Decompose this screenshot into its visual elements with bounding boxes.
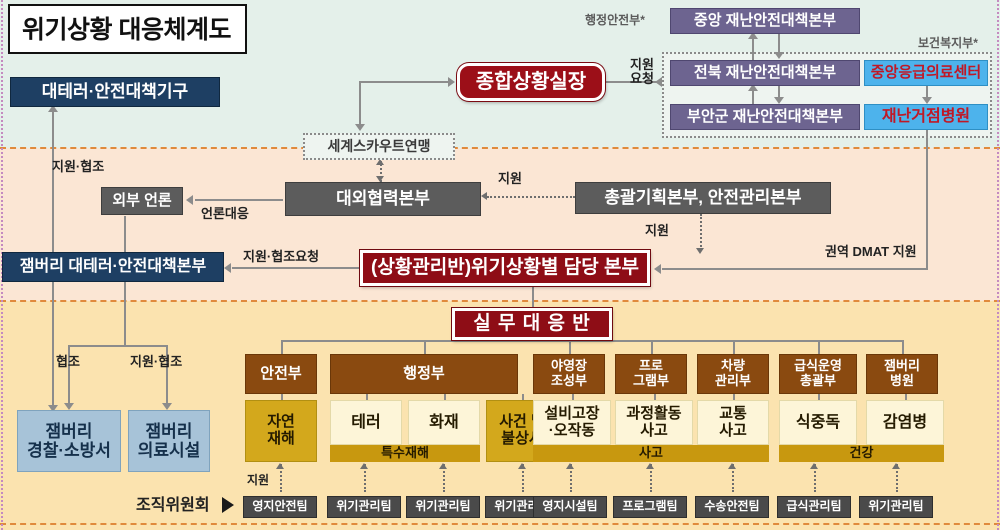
label-support-bottom: 지원	[247, 474, 269, 487]
node-team[interactable]: 급식관리팀	[777, 496, 851, 518]
line-crisis-to-working-team	[532, 286, 534, 308]
label-support-request: 지원 요청	[621, 58, 663, 87]
line-scout-to-situation	[359, 81, 449, 83]
node-external-media[interactable]: 외부 언론	[101, 187, 183, 215]
node-department[interactable]: 프로 그램부	[615, 354, 687, 394]
arrow-team-to-risk	[892, 463, 900, 469]
arrow-coop-to-media	[186, 195, 193, 205]
node-jamboree-police-fire[interactable]: 잼버리 경찰·소방서	[17, 410, 121, 472]
node-jamboree-medical-facility[interactable]: 잼버리 의료시설	[128, 410, 210, 472]
node-department[interactable]: 잼버리 병원	[866, 354, 938, 394]
node-working-response-team[interactable]: 실 무 대 응 반	[452, 308, 612, 340]
label-support-mid: 지원	[645, 224, 669, 238]
line-bus-to-department	[818, 340, 820, 354]
band-divider-3	[0, 523, 1000, 525]
arrow-team-to-risk	[728, 463, 736, 469]
line-coop-to-media	[195, 199, 283, 201]
line-bus-to-department	[424, 340, 426, 354]
node-team[interactable]: 영지안전팀	[243, 496, 317, 518]
node-central-disaster-hq[interactable]: 중앙 재난안전대책본부	[670, 8, 860, 34]
line-crisis-to-jamboree-ct	[232, 267, 360, 269]
line-jamboree-to-counterterror	[52, 107, 54, 272]
node-external-cooperation-hq[interactable]: 대외협력본부	[285, 182, 481, 216]
node-category-band[interactable]: 특수재해	[330, 445, 480, 462]
node-team[interactable]: 위기관리팀	[859, 496, 933, 518]
arrow-planning-to-crisis	[696, 248, 704, 254]
arrow-team-to-risk	[276, 463, 284, 469]
diagram-canvas: 위기상황 대응체계도 국무조정실* 대테러·안전대책기구 종합상황실장 세계스카…	[0, 0, 1000, 530]
node-risk-item[interactable]: 설비고장 ·오작동	[533, 400, 611, 445]
line-split-to-facilities	[68, 345, 168, 347]
arrow-scout-to-situation	[448, 77, 455, 87]
node-risk-item[interactable]: 식중독	[779, 400, 857, 445]
node-planning-safety-hq[interactable]: 총괄기획본부, 안전관리본부	[575, 182, 831, 214]
line-hospital-down	[926, 130, 928, 268]
node-risk-item[interactable]: 자연 재해	[245, 400, 317, 462]
arrow-jeonbuk-to-buan	[774, 97, 784, 104]
line-bus-to-department	[902, 340, 904, 354]
line-department-bus	[281, 340, 903, 342]
node-risk-item[interactable]: 과정활동 사고	[615, 400, 693, 445]
arrow-emc-to-hospital	[922, 97, 932, 104]
node-jeonbuk-disaster-hq[interactable]: 전북 재난안전대책본부	[670, 60, 860, 86]
play-triangle-icon	[222, 497, 234, 513]
node-team[interactable]: 위기관리팀	[406, 496, 480, 518]
node-team[interactable]: 수송안전팀	[695, 496, 769, 518]
line-bus-to-department	[733, 340, 735, 354]
line-jamboree-ct-down	[52, 282, 54, 409]
canvas-border-right	[997, 0, 999, 530]
arrow-team-to-risk	[439, 463, 447, 469]
node-department[interactable]: 급식운영 총괄부	[779, 354, 857, 394]
node-risk-item[interactable]: 교통 사고	[697, 400, 769, 445]
arrow-team-to-risk	[810, 463, 818, 469]
arrow-team-to-risk	[360, 463, 368, 469]
node-world-scout-federation[interactable]: 세계스카우트연맹	[303, 133, 455, 160]
node-counter-terror-org[interactable]: 대테러·안전대책기구	[10, 77, 220, 107]
node-central-emergency-medical-center[interactable]: 중앙응급의료센터	[864, 60, 988, 86]
arrow-planning-to-coop	[481, 192, 487, 200]
band-divider-1	[0, 147, 1000, 149]
node-jamboree-counter-terror-hq[interactable]: 잼버리 대테러·안전대책본부	[2, 252, 224, 282]
arrow-to-police-fire	[64, 403, 74, 410]
node-team[interactable]: 위기관리팀	[327, 496, 401, 518]
label-media-response: 언론대응	[201, 207, 249, 221]
node-team[interactable]: 영지시설팀	[533, 496, 607, 518]
arrow-crisis-to-jamboree-ct	[224, 263, 231, 273]
node-risk-item[interactable]: 감염병	[866, 400, 944, 445]
label-organizing-committee: 조직위원회	[136, 497, 210, 515]
arrow-central-to-jeonbuk	[774, 52, 784, 59]
label-cooperation: 협조	[56, 355, 80, 369]
label-support-coop-request: 지원·협조요청	[243, 250, 319, 264]
caption-ministry-interior-safety: 행정안전부*	[585, 11, 645, 28]
node-buan-disaster-hq[interactable]: 부안군 재난안전대책본부	[670, 104, 860, 130]
node-department[interactable]: 차량 관리부	[697, 354, 769, 394]
node-team[interactable]: 프로그램팀	[613, 496, 687, 518]
node-situation-room-chief[interactable]: 종합상황실장	[457, 63, 605, 101]
band-divider-2	[0, 300, 1000, 302]
node-crisis-situation-hq[interactable]: (상황관리반)위기상황별 담당 본부	[360, 250, 650, 286]
node-risk-item[interactable]: 화재	[408, 400, 480, 445]
node-risk-item[interactable]: 테러	[330, 400, 402, 445]
line-situation-down-to-scout	[359, 81, 361, 126]
node-disaster-base-hospital[interactable]: 재난거점병원	[864, 104, 988, 130]
line-bus-to-department	[651, 340, 653, 354]
line-bus-to-department	[569, 340, 571, 354]
line-dmat-to-crisis	[662, 268, 928, 270]
label-support-left: 지원	[498, 172, 522, 186]
arrow-situation-to-scout	[355, 124, 365, 131]
line-planning-to-crisis	[700, 214, 702, 250]
node-category-band[interactable]: 건강	[779, 445, 944, 462]
node-category-band[interactable]: 사고	[533, 445, 769, 462]
page-title: 위기상황 대응체계도	[8, 4, 247, 54]
line-bus-to-department	[281, 340, 283, 354]
arrow-team-to-risk	[646, 463, 654, 469]
arrow-dmat-to-crisis	[654, 264, 661, 274]
node-department[interactable]: 행정부	[330, 354, 518, 394]
node-department[interactable]: 야영장 조성부	[533, 354, 605, 394]
label-regional-dmat-support: 권역 DMAT 지원	[825, 245, 917, 259]
arrow-to-medical-facility	[162, 403, 172, 410]
node-department[interactable]: 안전부	[245, 354, 317, 394]
label-support-cooperation: 지원·협조	[130, 355, 182, 369]
arrow-team-to-risk	[566, 463, 574, 469]
line-planning-to-coop	[487, 196, 575, 198]
label-support-coop-top: 지원·협조	[52, 160, 104, 174]
caption-ministry-health-welfare: 보건복지부*	[918, 34, 978, 51]
arrow-team-to-risk	[518, 463, 526, 469]
